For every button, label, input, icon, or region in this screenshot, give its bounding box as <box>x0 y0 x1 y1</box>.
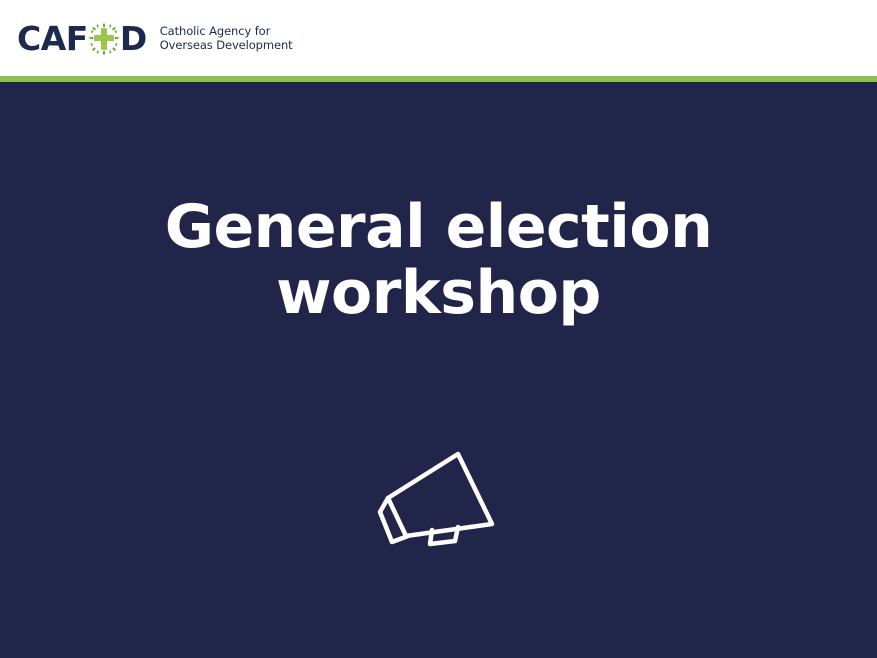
logo-tagline-line-1: Catholic Agency for <box>160 24 293 38</box>
cafod-logo: CAF <box>17 19 293 57</box>
logo-word-caf: CAF <box>17 22 88 55</box>
slide-body: General election workshop <box>0 82 877 658</box>
slide-title: General election workshop <box>0 194 877 326</box>
presentation-slide: CAF <box>0 0 877 658</box>
logo-tagline-line-2: Overseas Development <box>160 38 293 52</box>
cafod-sunburst-cross-icon <box>89 23 119 55</box>
megaphone-icon <box>370 442 510 552</box>
logo-word-d: D <box>120 22 147 55</box>
logo-tagline: Catholic Agency for Overseas Development <box>160 24 293 52</box>
cafod-logo-mark: CAF <box>17 19 147 57</box>
slide-header: CAF <box>0 0 877 76</box>
